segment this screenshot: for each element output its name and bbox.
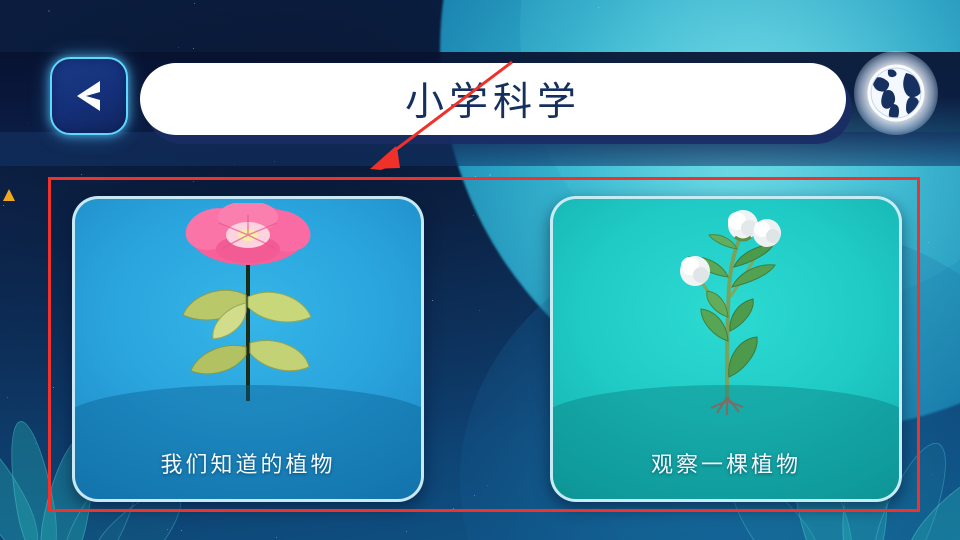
white-flower-plant-icon [631, 201, 821, 416]
card-1-footer: 我们知道的植物 [72, 385, 424, 502]
card-1-label: 我们知道的植物 [160, 447, 335, 502]
lesson-card-1[interactable]: 我们知道的植物 [72, 196, 424, 502]
card-2-label: 观察一棵植物 [651, 447, 801, 502]
card-grid: 我们知道的植物 [0, 0, 960, 540]
card-2-footer: 观察一棵植物 [550, 385, 902, 502]
app-screen: 小学科学 [0, 0, 960, 540]
pink-morning-glory-plant-icon [153, 203, 343, 413]
lesson-card-2[interactable]: 观察一棵植物 [550, 196, 902, 502]
